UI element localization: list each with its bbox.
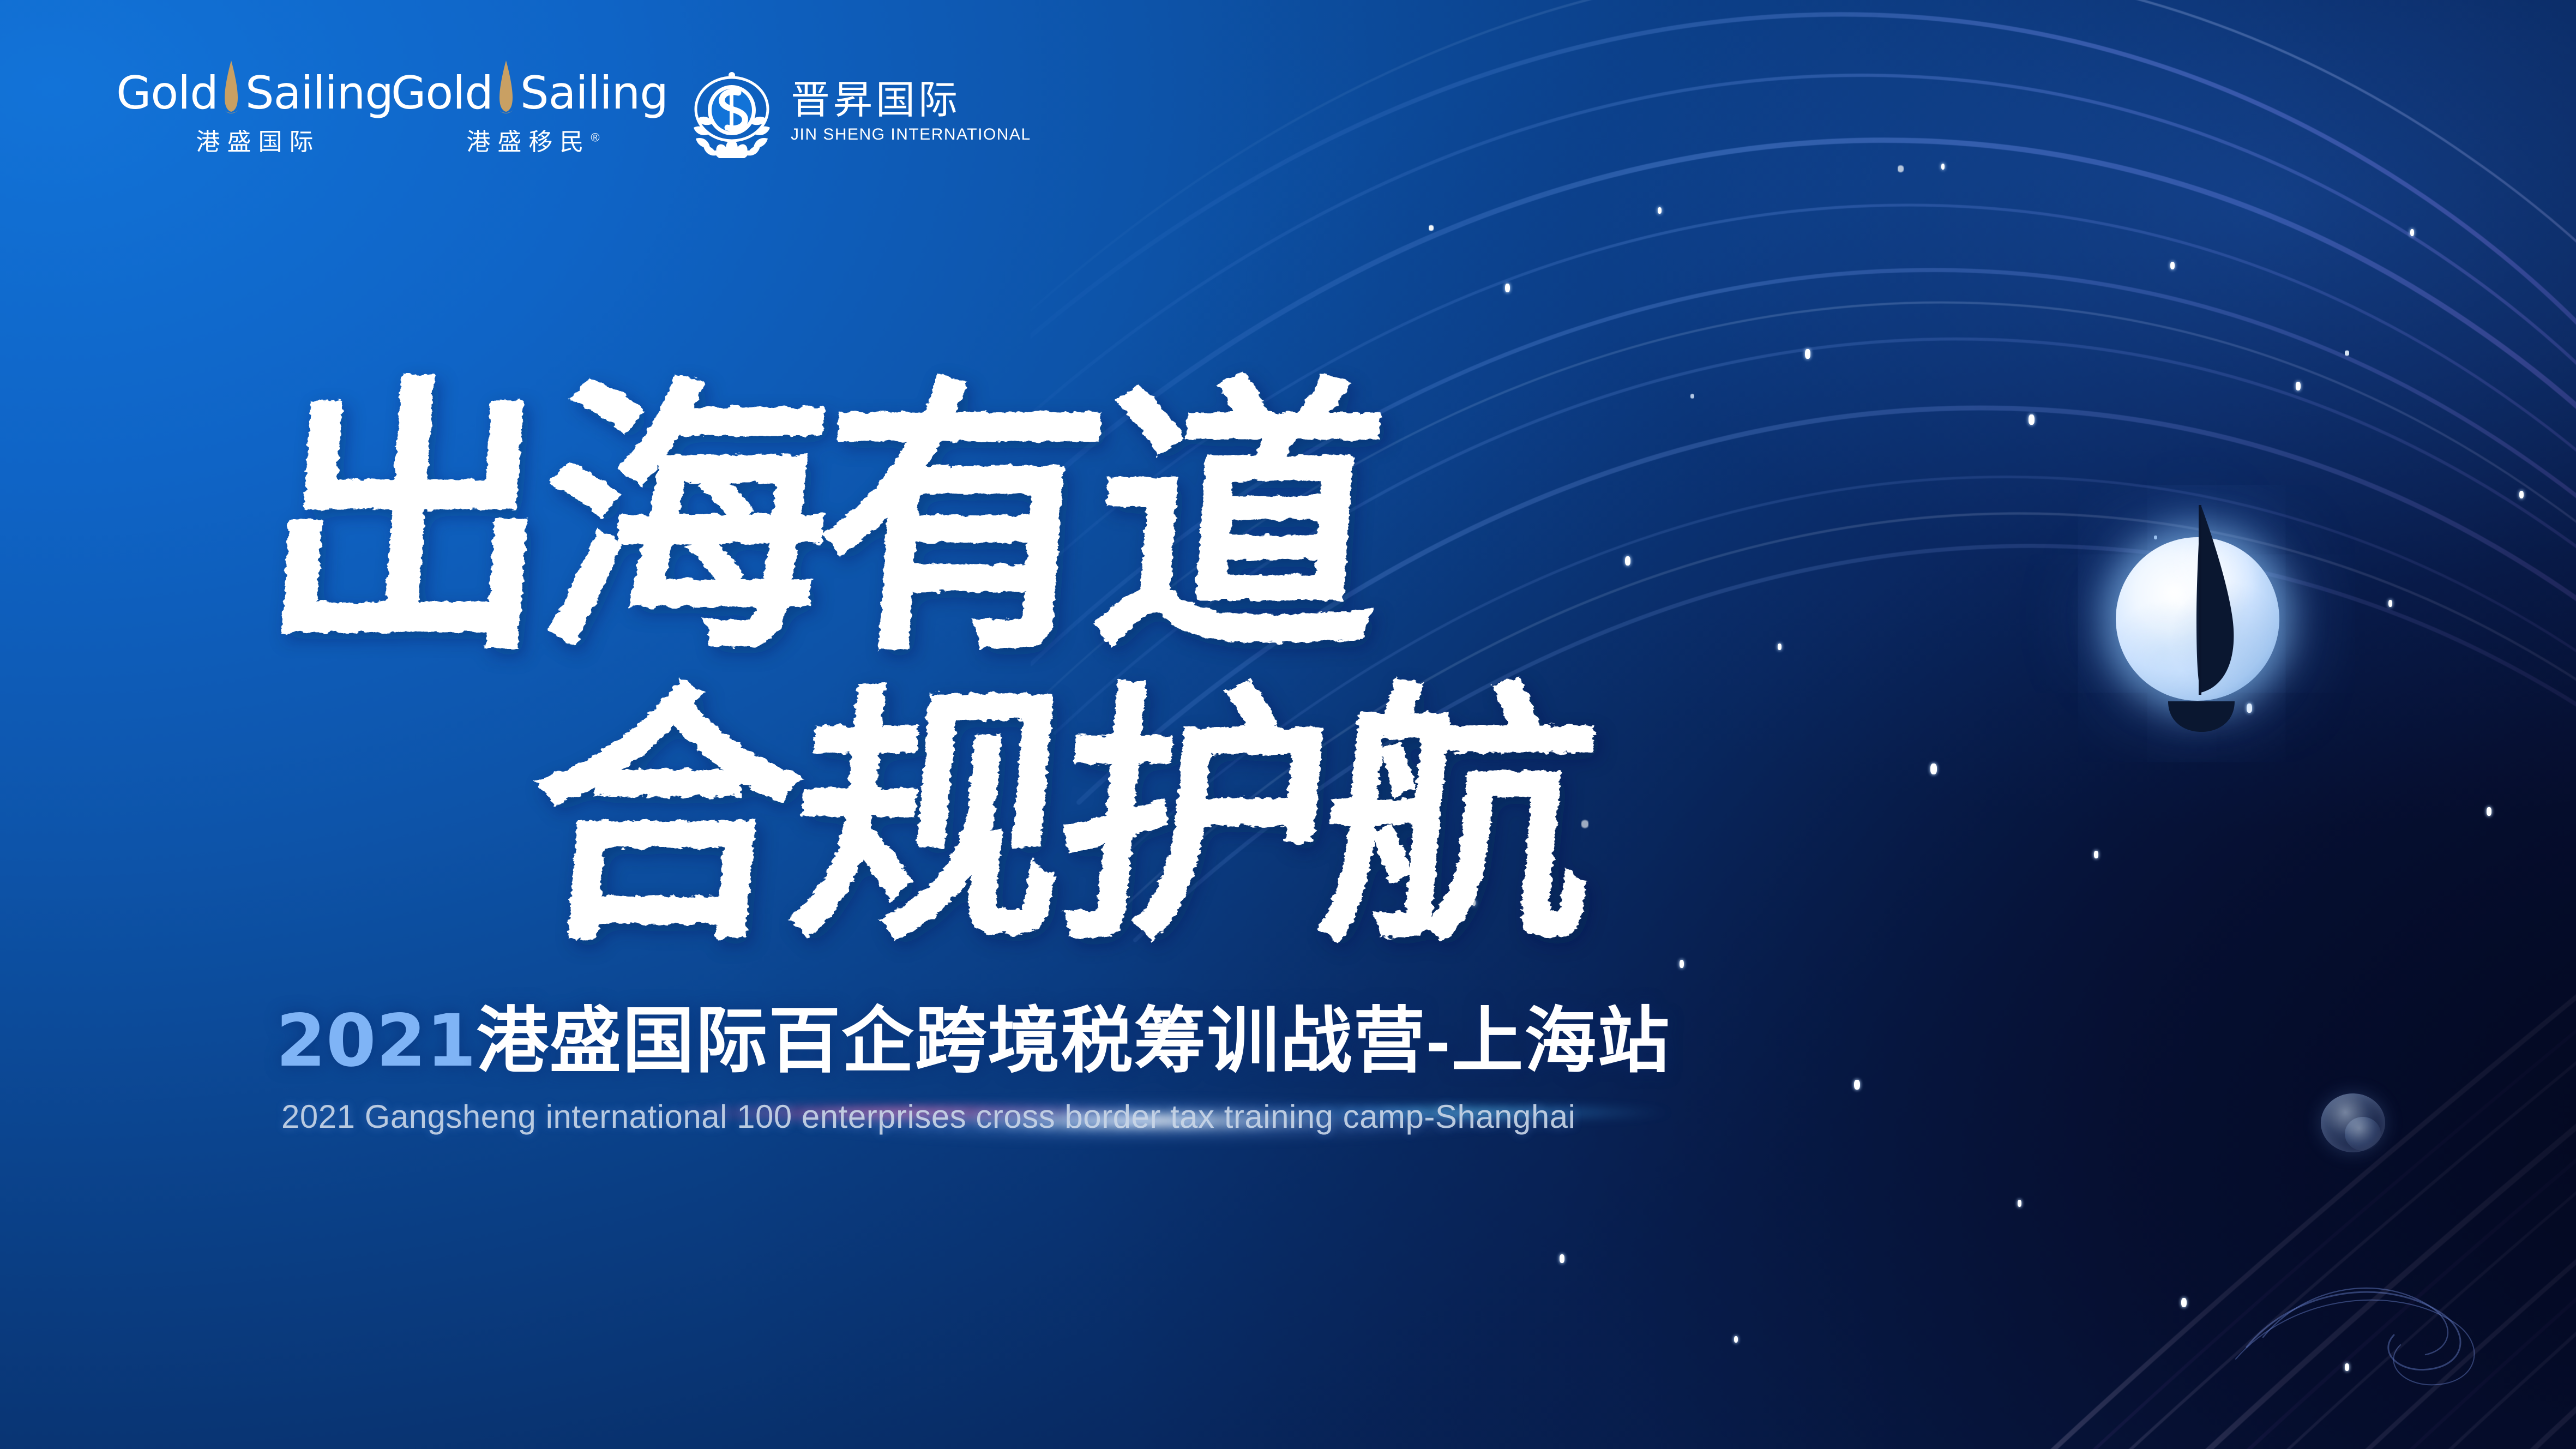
sail-icon (494, 59, 518, 117)
event-poster-banner: Gold Sailing 港盛国际 Gold (0, 0, 2576, 1449)
headline-line-2: 合规护航 (515, 658, 1606, 978)
logo3-english-name: JIN SHENG INTERNATIONAL (791, 125, 1031, 144)
subtitle-year: 2021 (276, 999, 476, 1083)
headline-line-1: 出海有道 (252, 351, 1395, 690)
registered-mark-icon: ® (591, 130, 599, 144)
logo1-word-sailing: Sailing (245, 70, 393, 116)
logo2-chinese-name: 港盛移民® (401, 122, 658, 157)
logo-gold-sailing-immigration[interactable]: Gold Sailing 港盛移民® (401, 64, 658, 157)
logo2-word-sailing: Sailing (520, 70, 668, 116)
logo-row: Gold Sailing 港盛国际 Gold (127, 64, 1031, 158)
subtitle-english: 2021 Gangsheng international 100 enterpr… (281, 1098, 1575, 1135)
vortex-swirl (2214, 1167, 2519, 1396)
bubble-orb-small (2345, 1117, 2381, 1151)
subtitle-chinese-rest: 港盛国际百企跨境税筹训战营-上海站 (476, 1001, 1670, 1081)
logo2-chinese-text: 港盛移民 (466, 129, 591, 155)
logo-jin-sheng-international[interactable]: 晋昇国际 JIN SHENG INTERNATIONAL (685, 64, 1031, 158)
logo2-word-gold: Gold (391, 70, 493, 116)
sail-icon (219, 59, 243, 117)
laurel-wreath-s-emblem-icon (685, 67, 779, 158)
logo1-word-gold: Gold (116, 70, 218, 116)
subtitle-chinese: 2021港盛国际百企跨境税筹训战营-上海站 (276, 1002, 1670, 1080)
sailboat-icon (2144, 501, 2259, 735)
logo3-chinese-name: 晋昇国际 (791, 81, 1031, 121)
logo-gold-sailing-international[interactable]: Gold Sailing 港盛国际 (127, 64, 383, 157)
headline-calligraphy: 出海有道 合规护航 (256, 316, 1701, 971)
logo1-chinese-name: 港盛国际 (127, 122, 383, 157)
